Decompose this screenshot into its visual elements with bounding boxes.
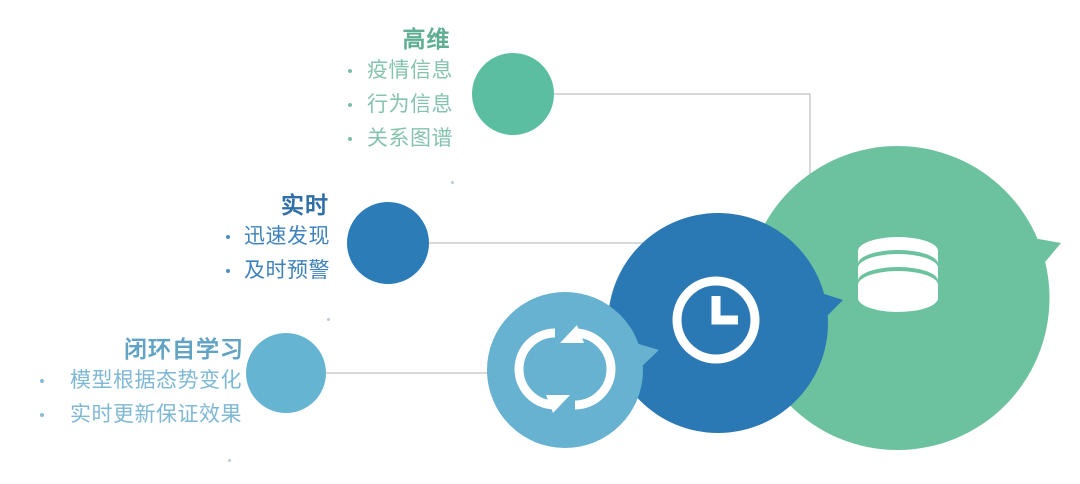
- group-gaowei-item-2: 关系图谱: [367, 122, 453, 156]
- group-gaowei-item-1: 行为信息: [367, 88, 453, 122]
- bullet-dot-icon: [40, 379, 44, 383]
- stray-dot: [451, 181, 454, 184]
- group-shishi: 实时 迅速发现 及时预警: [226, 190, 330, 288]
- list-item: 疫情信息: [348, 54, 453, 88]
- bullet-dot-icon: [226, 269, 230, 273]
- list-item: 行为信息: [348, 88, 453, 122]
- node-circle-shishi[interactable]: [347, 202, 429, 284]
- list-item: 迅速发现: [226, 220, 330, 254]
- node-circle-gaowei[interactable]: [472, 53, 554, 135]
- list-item: 关系图谱: [348, 122, 453, 156]
- group-shishi-title: 实时: [226, 190, 330, 220]
- list-item: 及时预警: [226, 254, 330, 288]
- group-bihuan-title: 闭环自学习: [40, 334, 244, 364]
- bullet-dot-icon: [40, 413, 44, 417]
- stray-dot: [228, 459, 231, 462]
- list-item: 实时更新保证效果: [40, 398, 244, 432]
- group-bihuan-item-1: 实时更新保证效果: [70, 398, 242, 432]
- group-shishi-item-0: 迅速发现: [244, 220, 330, 254]
- bullet-dot-icon: [226, 235, 230, 239]
- bullet-dot-icon: [348, 69, 352, 73]
- group-bihuan-item-0: 模型根据态势变化: [70, 364, 242, 398]
- group-bihuan: 闭环自学习 模型根据态势变化 实时更新保证效果: [40, 334, 244, 432]
- group-gaowei-title: 高维: [348, 24, 453, 54]
- bullet-dot-icon: [348, 103, 352, 107]
- bullet-dot-icon: [348, 137, 352, 141]
- diagram-canvas: 高维 疫情信息 行为信息 关系图谱 实时 迅速发现 及时预警 闭环自学习 模型: [0, 0, 1080, 484]
- group-gaowei: 高维 疫情信息 行为信息 关系图谱: [348, 24, 453, 156]
- stray-dot: [327, 318, 330, 321]
- node-circle-bihuan[interactable]: [246, 333, 326, 413]
- list-item: 模型根据态势变化: [40, 364, 244, 398]
- group-gaowei-item-0: 疫情信息: [367, 54, 453, 88]
- group-shishi-item-1: 及时预警: [244, 254, 330, 288]
